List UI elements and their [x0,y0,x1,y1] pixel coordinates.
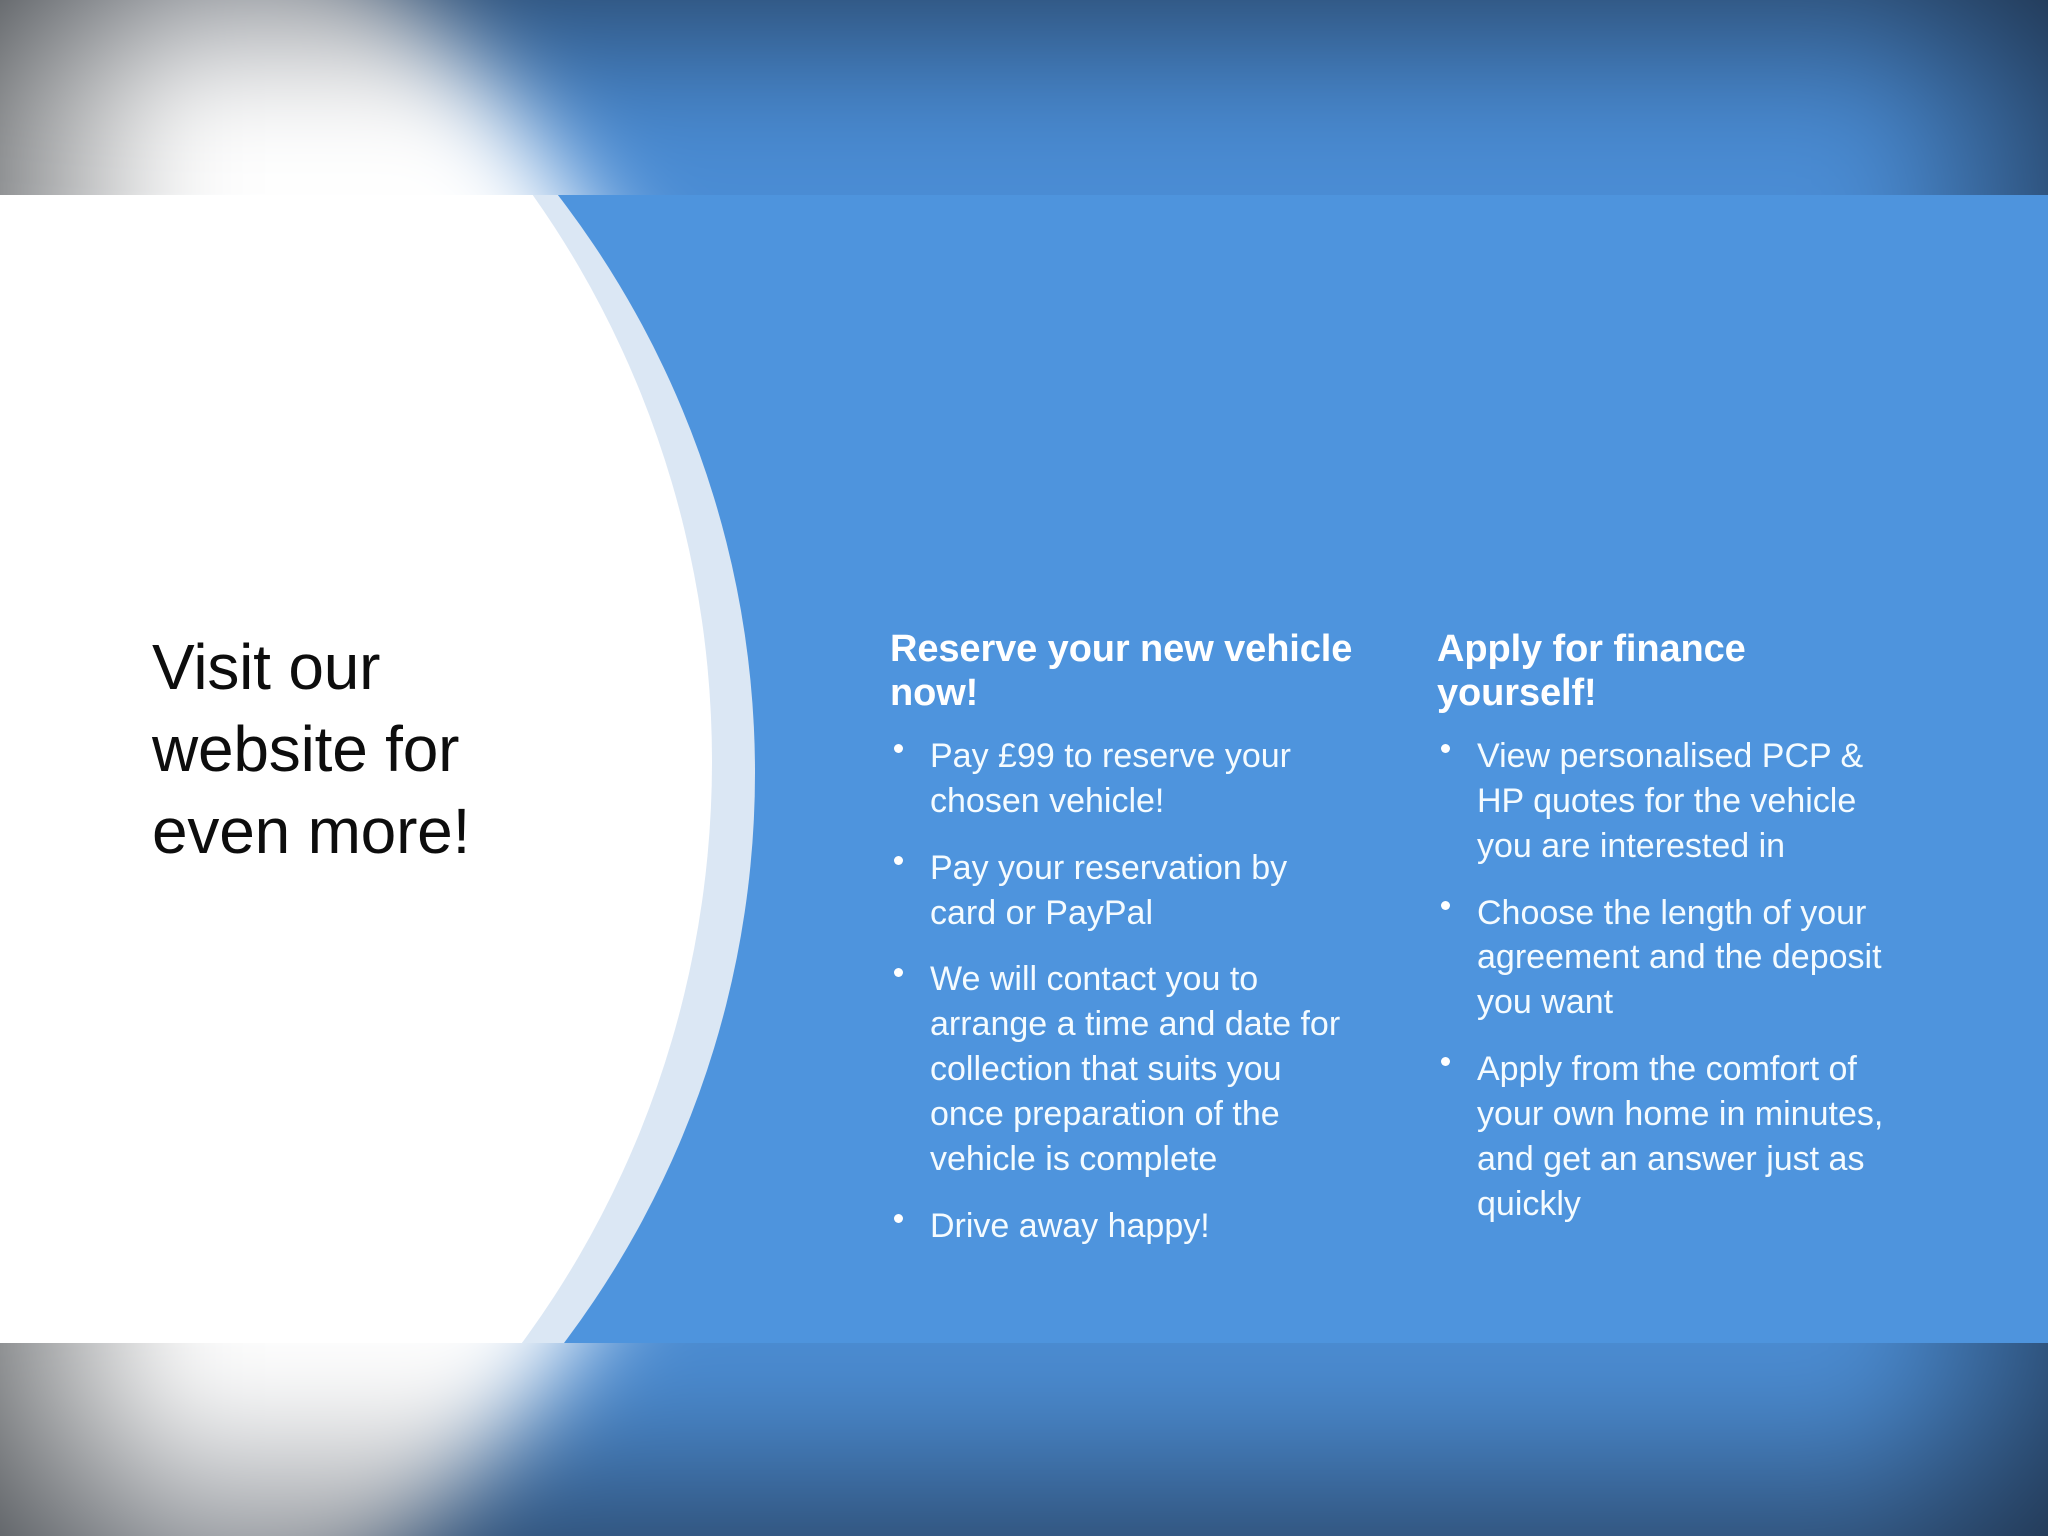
content-column-finance: Apply for finance yourself! View persona… [1437,627,1907,1249]
page-title: Visit our website for even more! [152,627,572,873]
content-column-reserve: Reserve your new vehicle now! Pay £99 to… [890,627,1360,1271]
bullet-dot-icon [894,856,903,865]
list-item: Pay £99 to reserve your chosen vehicle! [890,734,1360,824]
presentation-slide: Visit our website for even more! Reserve… [0,195,2048,1343]
bullet-dot-icon [894,1214,903,1223]
list-item-text: Pay your reservation by card or PayPal [930,849,1287,932]
bullet-dot-icon [894,744,903,753]
list-item-text: Drive away happy! [930,1207,1210,1245]
list-item: View personalised PCP & HP quotes for th… [1437,734,1907,869]
column-2-bullet-list: View personalised PCP & HP quotes for th… [1437,734,1907,1227]
list-item-text: Pay £99 to reserve your chosen vehicle! [930,737,1291,820]
column-2-title: Apply for finance yourself! [1437,627,1907,716]
column-1-bullet-list: Pay £99 to reserve your chosen vehicle! … [890,734,1360,1249]
list-item: Choose the length of your agreement and … [1437,891,1907,1026]
list-item: Drive away happy! [890,1204,1360,1249]
list-item-text: Choose the length of your agreement and … [1477,894,1882,1022]
list-item: We will contact you to arrange a time an… [890,957,1360,1181]
bullet-dot-icon [1441,1057,1450,1066]
column-1-title: Reserve your new vehicle now! [890,627,1360,716]
bullet-dot-icon [1441,901,1450,910]
list-item-text: View personalised PCP & HP quotes for th… [1477,737,1863,865]
backdrop-vignette-bottom [0,1380,2048,1536]
bullet-dot-icon [1441,744,1450,753]
bullet-dot-icon [894,968,903,977]
list-item-text: We will contact you to arrange a time an… [930,960,1340,1178]
list-item-text: Apply from the comfort of your own home … [1477,1050,1883,1223]
backdrop-vignette-top [0,0,2048,115]
slide-viewer: Visit our website for even more! Reserve… [0,0,2048,1536]
list-item: Apply from the comfort of your own home … [1437,1047,1907,1227]
list-item: Pay your reservation by card or PayPal [890,846,1360,936]
